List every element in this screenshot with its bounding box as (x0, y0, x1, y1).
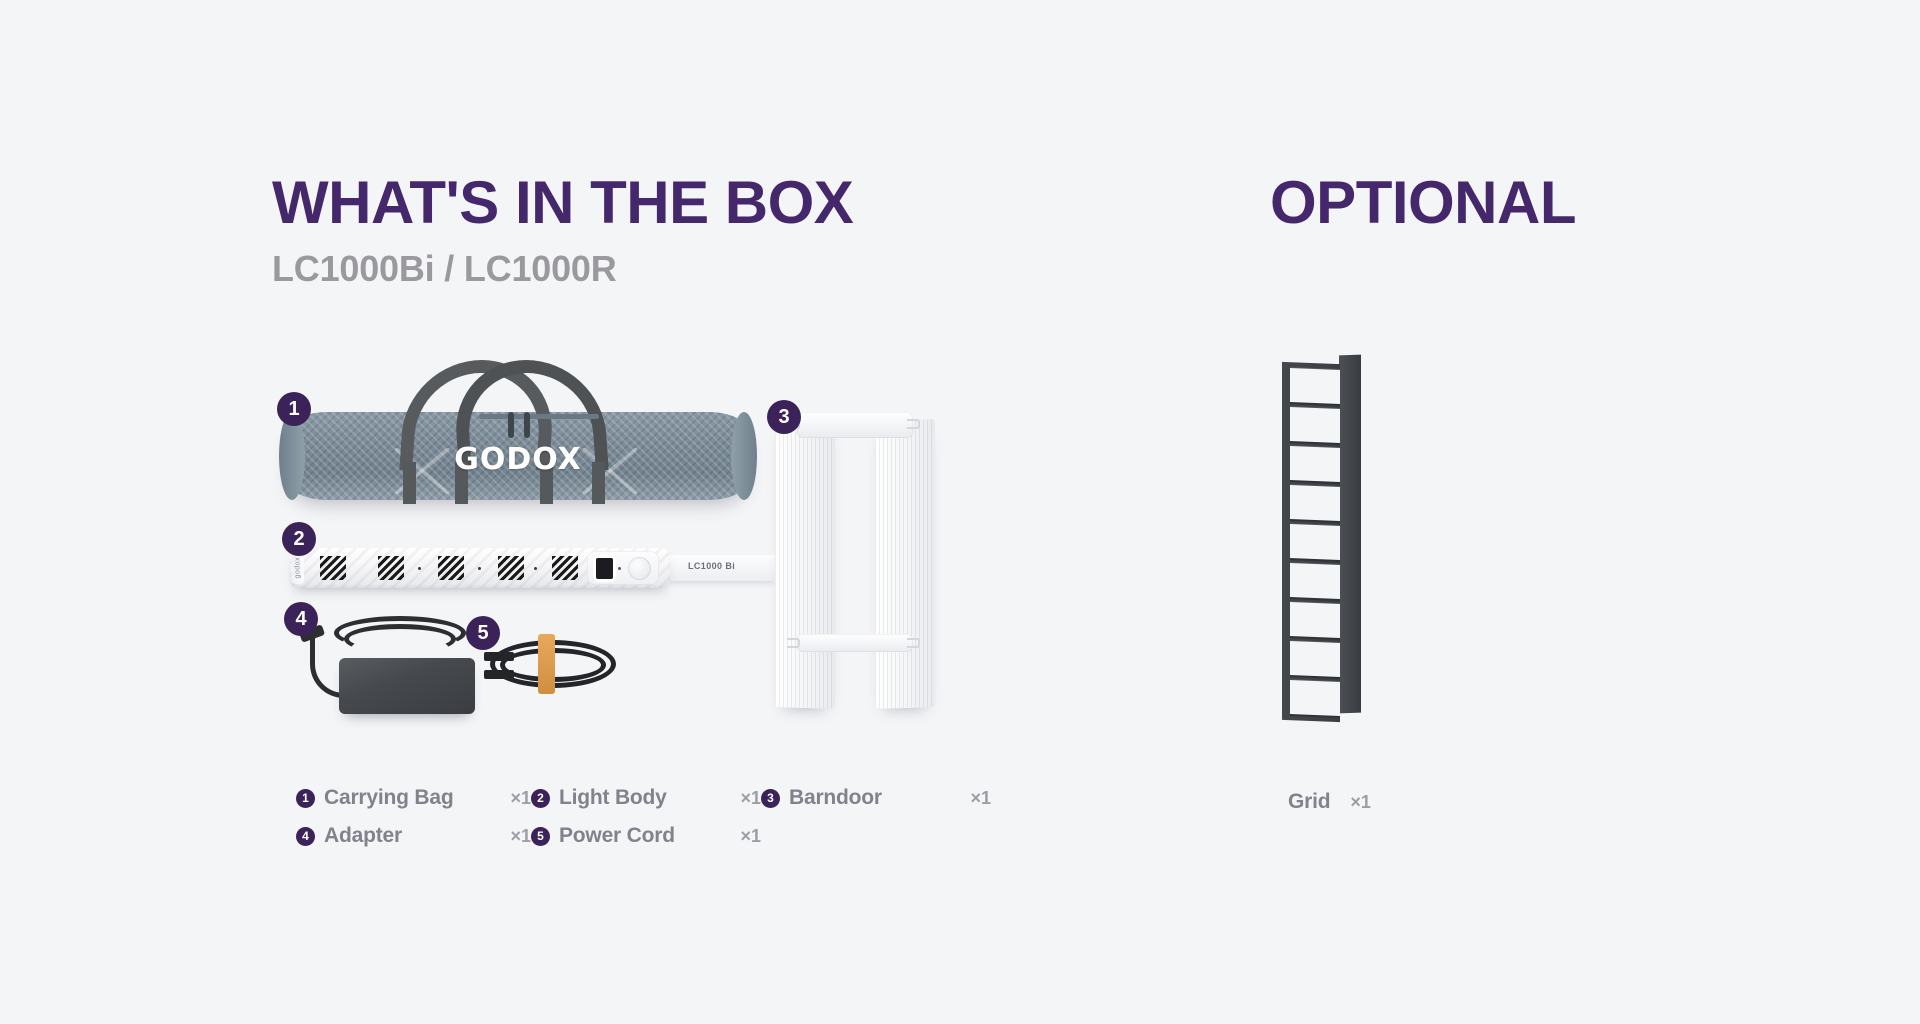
grid-cell (1290, 641, 1340, 677)
product-carrying-bag: GODOX 1 (283, 352, 753, 502)
cord-plug-prong-1 (484, 652, 514, 661)
legend-row: 4 Adapter ×1 5 Power Cord ×1 (296, 824, 991, 848)
light-dot-2 (478, 567, 481, 570)
light-vent-5 (552, 556, 578, 580)
legend-item-light-body: 2 Light Body ×1 (531, 786, 761, 810)
legend-badge-1: 1 (296, 789, 315, 808)
legend-badge-2: 2 (531, 789, 550, 808)
legend-label-light-body: Light Body (559, 786, 667, 810)
light-vent-2 (378, 556, 404, 580)
legend-badge-3: 3 (761, 789, 780, 808)
page-subtitle-models: LC1000Bi / LC1000R (272, 248, 617, 290)
legend-qty-light-body: ×1 (726, 788, 761, 809)
barndoor-panel-left (775, 419, 835, 709)
page-title-optional: OPTIONAL (1270, 168, 1576, 237)
cord-velcro-tie (538, 634, 555, 694)
light-control-dial (628, 557, 651, 580)
light-body-model-label: LC1000 Bi (688, 561, 780, 571)
legend-label-power-cord: Power Cord (559, 824, 675, 848)
legend-label-adapter: Adapter (324, 824, 402, 848)
light-control-panel (587, 551, 659, 585)
legend-item-carrying-bag: 1 Carrying Bag ×1 (296, 786, 531, 810)
grid-cell (1290, 524, 1340, 560)
bag-godox-logo: GODOX (438, 442, 598, 477)
light-dot-1 (418, 567, 421, 570)
bag-end-cap-right (731, 412, 757, 500)
legend-qty-grid: ×1 (1350, 792, 1371, 813)
page-title-box: WHAT'S IN THE BOX (272, 168, 853, 237)
legend-label-grid: Grid (1288, 790, 1330, 814)
product-grid (1282, 355, 1372, 725)
grid-cell (1290, 680, 1340, 716)
legend-item-empty (761, 824, 991, 848)
grid-cell (1290, 485, 1340, 521)
legend-item-barndoor: 3 Barndoor ×1 (761, 786, 991, 810)
product-badge-2: 2 (282, 522, 316, 556)
product-badge-5: 5 (466, 616, 500, 650)
grid-side-panel (1339, 355, 1361, 714)
adapter-cable-loop-inner (344, 624, 456, 654)
grid-cell (1290, 446, 1340, 482)
grid-cell (1290, 602, 1340, 638)
product-adapter: 4 (292, 610, 482, 730)
light-dot-3 (534, 567, 537, 570)
bag-zipper-pull-2 (524, 412, 530, 438)
product-power-cord: 5 (480, 630, 625, 720)
barndoor-hook-top-right (907, 419, 920, 429)
barndoor-panel-right (875, 419, 935, 709)
product-light-body: LC1000 Bi godox 2 (290, 540, 740, 596)
legend-optional: Grid ×1 (1288, 790, 1371, 814)
barndoor-hook-bottom-right (907, 638, 920, 648)
infographic-page: WHAT'S IN THE BOX LC1000Bi / LC1000R OPT… (0, 0, 1920, 1024)
legend-badge-4: 4 (296, 827, 315, 846)
grid-cell (1290, 407, 1340, 443)
legend-row: 1 Carrying Bag ×1 2 Light Body ×1 3 Barn… (296, 786, 991, 810)
light-body-end-cap: godox (292, 552, 304, 584)
barndoor-bracket-top (797, 412, 913, 438)
product-badge-1: 1 (277, 392, 311, 426)
legend-qty-power-cord: ×1 (726, 826, 761, 847)
bag-strap-leg-1 (403, 462, 416, 504)
legend-qty-adapter: ×1 (496, 826, 531, 847)
product-barndoor: 3 (775, 412, 935, 712)
legend-item-adapter: 4 Adapter ×1 (296, 824, 531, 848)
product-badge-4: 4 (284, 602, 318, 636)
adapter-brick (339, 658, 475, 714)
light-vent-4 (498, 556, 524, 580)
legend-box-contents: 1 Carrying Bag ×1 2 Light Body ×1 3 Barn… (296, 786, 991, 862)
cord-plug-prong-2 (484, 670, 514, 679)
grid-cell (1290, 368, 1340, 404)
product-badge-3: 3 (767, 400, 801, 434)
grid-cells (1290, 362, 1340, 722)
light-vent-3 (438, 556, 464, 580)
light-display-screen (596, 558, 613, 579)
bag-zipper-pull-1 (508, 412, 514, 438)
legend-qty-barndoor: ×1 (956, 788, 991, 809)
legend-qty-carrying-bag: ×1 (496, 788, 531, 809)
legend-item-power-cord: 5 Power Cord ×1 (531, 824, 761, 848)
legend-label-barndoor: Barndoor (789, 786, 882, 810)
legend-badge-5: 5 (531, 827, 550, 846)
bag-zipper (479, 414, 599, 419)
light-vent-1 (320, 556, 346, 580)
barndoor-bracket-bottom (797, 634, 913, 652)
grid-cell (1290, 563, 1340, 599)
light-panel-indicator (618, 567, 621, 570)
legend-label-carrying-bag: Carrying Bag (324, 786, 453, 810)
barndoor-hook-bottom-left (787, 638, 800, 648)
